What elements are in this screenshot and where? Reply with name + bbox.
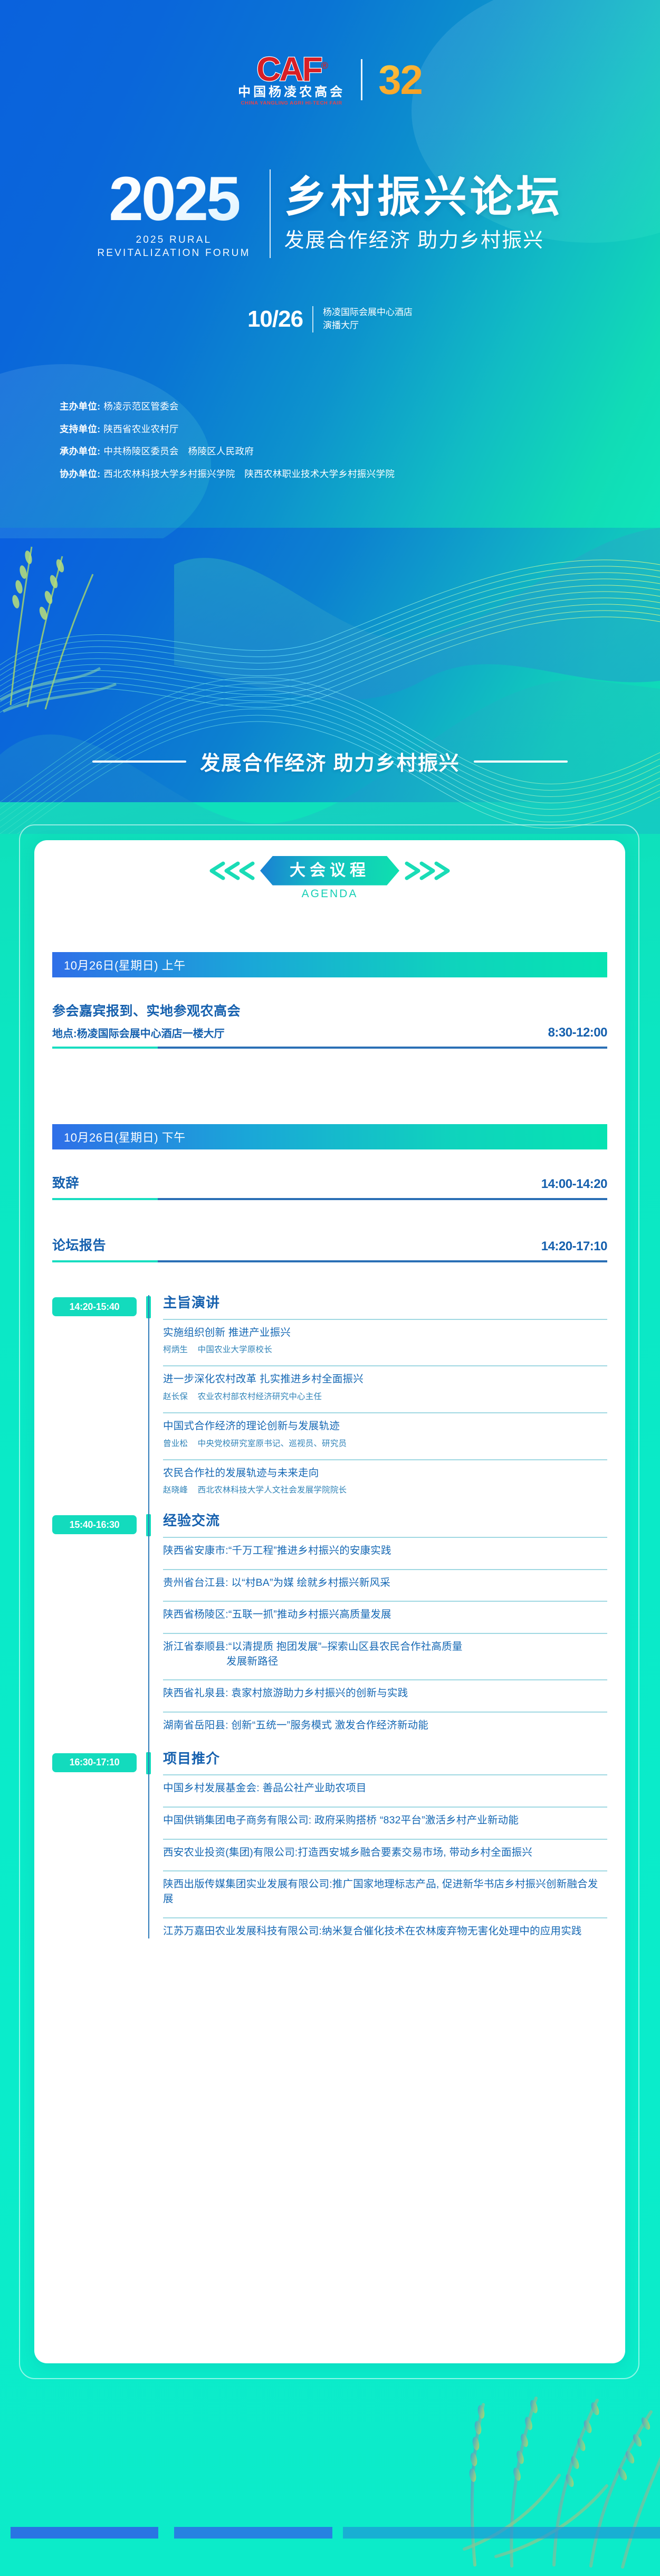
morning-session: 参会嘉宾报到、实地参观农高会 地点:杨凌国际会展中心酒店一楼大厅 8:30-12… — [52, 1001, 607, 1049]
brand-logo-row: CAF® 中国杨凌农高会 CHINA YANGLING AGRI HI-TECH… — [0, 49, 660, 111]
session-speaker: 曾业松 中央党校研究室原书记、巡视员、研究员 — [163, 1437, 607, 1449]
opening-session: 致辞 14:00-14:20 — [52, 1173, 607, 1200]
speaker-role: 农业农村部农村经济研究中心主任 — [198, 1392, 322, 1401]
list-item: 江苏万嘉田农业发展科技有限公司:纳米复合催化技术在农林废弃物无害化处理中的应用实… — [163, 1917, 607, 1939]
organizer-row: 协办单位: 西北农林科技大学乡村振兴学院 陕西农林职业技术大学乡村振兴学院 — [60, 470, 619, 479]
session-title: 中国式合作经济的理论创新与发展轨迹 — [163, 1419, 607, 1434]
timeline-gap — [163, 1733, 607, 1751]
agenda-badge-label: 大会议程 — [260, 856, 399, 886]
hero-year-column: 2025 2025 RURAL REVITALIZATION FORUM — [97, 168, 255, 260]
list-item: 陕西省杨陵区:“五联一抓”推动乡村振兴高质量发展 — [163, 1601, 607, 1622]
list-item: 陕西出版传媒集团实业发展有限公司:推广国家地理标志产品, 促进新华书店乡村振兴创… — [163, 1870, 607, 1906]
caf-logo: CAF® 中国杨凌农高会 CHINA YANGLING AGRI HI-TECH… — [238, 53, 345, 107]
list-item: 陕西省安康市:“千万工程”推进乡村振兴的安康实践 — [163, 1537, 607, 1558]
morning-place-row: 地点:杨凌国际会展中心酒店一楼大厅 8:30-12:00 — [52, 1025, 607, 1040]
event-venue: 杨凌国际会展中心酒店 演播大厅 — [323, 306, 413, 332]
session-title: 进一步深化农村改革 扎实推进乡村全面振兴 — [163, 1372, 607, 1387]
list-item: 中国供销集团电子商务有限公司: 政府采购搭桥 “832平台”激活乡村产业新动能 — [163, 1807, 607, 1828]
registered-trademark-icon: ® — [321, 60, 327, 71]
timeline-group-keynote: 14:20-15:40 主旨演讲 实施组织创新 推进产业振兴 柯炳生 中国农业大… — [52, 1295, 607, 1513]
session-speaker: 柯炳生 中国农业大学原校长 — [163, 1343, 607, 1355]
organizer-value: 陕西省农业农村厅 — [103, 425, 178, 434]
speaker-role: 西北农林科技大学人文社会发展学院院长 — [198, 1486, 347, 1495]
hero-year-en-line2: REVITALIZATION FORUM — [97, 248, 250, 259]
caf-english-name: CHINA YANGLING AGRI HI-TECH FAIR — [241, 100, 342, 106]
session-speaker: 赵长保 农业农村部农村经济研究中心主任 — [163, 1390, 607, 1402]
session-title: 实施组织创新 推进产业振兴 — [163, 1326, 607, 1341]
speaker-name: 柯炳生 — [163, 1345, 188, 1354]
page-subtitle: 发展合作经济 助力乡村振兴 — [284, 229, 563, 253]
caf-wordmark-icon: CAF® — [256, 53, 327, 85]
timeline-time-pill: 16:30-17:10 — [52, 1753, 137, 1772]
list-item: 陕西省礼泉县: 袁家村旅游助力乡村振兴的创新与实践 — [163, 1679, 607, 1701]
poster-root: CAF® 中国杨凌农高会 CHINA YANGLING AGRI HI-TECH… — [0, 0, 660, 2576]
organizer-value: 西北农林科技大学乡村振兴学院 陕西农林职业技术大学乡村振兴学院 — [103, 470, 395, 479]
session-title: 江苏万嘉田农业发展科技有限公司:纳米复合催化技术在农林废弃物无害化处理中的应用实… — [163, 1924, 607, 1939]
chevron-right-icon — [396, 859, 454, 882]
timeline-spine — [148, 1295, 149, 1513]
organizer-value: 中共杨陵区委员会 杨陵区人民政府 — [103, 447, 254, 457]
timeline-group-heading: 经验交流 — [163, 1513, 607, 1528]
venue-line2: 演播大厅 — [323, 320, 359, 330]
daybar-afternoon: 10月26日(星期日) 下午 — [52, 1124, 607, 1149]
organizer-list: 主办单位: 杨凌示范区管委会 支持单位: 陕西省农业农村厅 承办单位: 中共杨陵… — [60, 402, 619, 492]
banner-rule-right — [474, 761, 568, 763]
organizer-row: 主办单位: 杨凌示范区管委会 — [60, 402, 619, 412]
session-title: 陕西省杨陵区:“五联一抓”推动乡村振兴高质量发展 — [163, 1608, 607, 1622]
opening-rule — [52, 1198, 607, 1200]
list-item: 农民合作社的发展轨迹与未来走向 赵晓峰 西北农林科技大学人文社会发展学院院长 — [163, 1459, 607, 1496]
timeline-group-experience: 15:40-16:30 经验交流 陕西省安康市:“千万工程”推进乡村振兴的安康实… — [52, 1513, 607, 1751]
agenda-card: 大会议程 AGENDA 10月26日(星期日) 上午 参会嘉宾报到、实地参观农高… — [34, 840, 625, 2363]
timeline-time-pill: 15:40-16:30 — [52, 1515, 137, 1534]
list-item: 中国乡村发展基金会: 善品公社产业助农项目 — [163, 1774, 607, 1796]
session-title: 农民合作社的发展轨迹与未来走向 — [163, 1466, 607, 1481]
event-date: 10/26 — [247, 308, 303, 331]
daybar-morning: 10月26日(星期日) 上午 — [52, 952, 607, 977]
agenda-header: 大会议程 AGENDA — [34, 856, 625, 900]
report-session: 论坛报告 14:20-17:10 — [52, 1235, 607, 1262]
agenda-timeline: 14:20-15:40 主旨演讲 实施组织创新 推进产业振兴 柯炳生 中国农业大… — [52, 1295, 607, 1938]
banner-rule-left — [92, 761, 186, 763]
page-title: 乡村振兴论坛 — [284, 175, 563, 221]
list-item: 中国式合作经济的理论创新与发展轨迹 曾业松 中央党校研究室原书记、巡视员、研究员 — [163, 1412, 607, 1449]
speaker-name: 曾业松 — [163, 1439, 188, 1448]
report-time: 14:20-17:10 — [541, 1239, 607, 1254]
opening-title-row: 致辞 14:00-14:20 — [52, 1173, 607, 1192]
report-rule — [52, 1260, 607, 1262]
hero-year-en-line1: 2025 RURAL — [136, 234, 212, 245]
morning-place: 地点:杨凌国际会展中心酒店一楼大厅 — [52, 1025, 225, 1040]
timeline-group-projects: 16:30-17:10 项目推介 中国乡村发展基金会: 善品公社产业助农项目 中… — [52, 1751, 607, 1939]
list-item: 湖南省岳阳县: 创新“五统一”服务模式 激发合作经济新动能 — [163, 1712, 607, 1733]
session-title: 湖南省岳阳县: 创新“五统一”服务模式 激发合作经济新动能 — [163, 1718, 607, 1733]
list-item: 浙江省泰顺县:“以清提质 抱团发展”–探索山区县农民合作社高质量 发展新路径 — [163, 1633, 607, 1669]
logo-divider — [361, 59, 362, 100]
timeline-time-pill: 14:20-15:40 — [52, 1297, 137, 1316]
speaker-name: 赵长保 — [163, 1392, 188, 1401]
timeline-gap — [163, 1495, 607, 1513]
list-item: 进一步深化农村改革 扎实推进乡村全面振兴 赵长保 农业农村部农村经济研究中心主任 — [163, 1365, 607, 1402]
organizer-label: 协办单位: — [60, 470, 100, 479]
agenda-badge-english: AGENDA — [302, 888, 358, 900]
session-title: 陕西省礼泉县: 袁家村旅游助力乡村振兴的创新与实践 — [163, 1686, 607, 1701]
section-banner: 发展合作经济 助力乡村振兴 — [0, 747, 660, 776]
opening-title: 致辞 — [52, 1173, 79, 1192]
session-title: 浙江省泰顺县:“以清提质 抱团发展”–探索山区县农民合作社高质量 — [163, 1640, 607, 1655]
session-speaker: 赵晓峰 西北农林科技大学人文社会发展学院院长 — [163, 1484, 607, 1495]
agenda-badge-row: 大会议程 — [205, 856, 454, 886]
hero-title-column: 乡村振兴论坛 发展合作经济 助力乡村振兴 — [284, 175, 563, 253]
timeline-group-heading: 主旨演讲 — [163, 1295, 607, 1310]
timeline-spine — [148, 1751, 149, 1939]
hero-year-english: 2025 RURAL REVITALIZATION FORUM — [97, 233, 250, 260]
morning-time: 8:30-12:00 — [548, 1025, 607, 1040]
organizer-row: 支持单位: 陕西省农业农村厅 — [60, 425, 619, 434]
banner-title: 发展合作经济 助力乡村振兴 — [200, 747, 460, 776]
date-venue-divider — [312, 306, 313, 332]
morning-title-row: 参会嘉宾报到、实地参观农高会 — [52, 1001, 607, 1020]
list-item: 实施组织创新 推进产业振兴 柯炳生 中国农业大学原校长 — [163, 1319, 607, 1355]
speaker-name: 赵晓峰 — [163, 1486, 188, 1495]
organizer-label: 主办单位: — [60, 402, 100, 412]
timeline-group-heading: 项目推介 — [163, 1751, 607, 1766]
speaker-role: 中国农业大学原校长 — [198, 1345, 272, 1354]
opening-time: 14:00-14:20 — [541, 1177, 607, 1192]
hero-title-block: 2025 2025 RURAL REVITALIZATION FORUM 乡村振… — [0, 168, 660, 260]
session-title: 贵州省台江县: 以“村BA”为媒 绘就乡村振兴新风采 — [163, 1576, 607, 1591]
list-item: 西安农业投资(集团)有限公司:打造西安城乡融合要素交易市场, 带动乡村全面振兴 — [163, 1839, 607, 1860]
venue-line1: 杨凌国际会展中心酒店 — [323, 307, 413, 317]
edition-number: 32 — [378, 59, 422, 100]
organizer-label: 支持单位: — [60, 425, 100, 434]
report-title: 论坛报告 — [52, 1235, 106, 1254]
report-title-row: 论坛报告 14:20-17:10 — [52, 1235, 607, 1254]
session-title: 陕西省安康市:“千万工程”推进乡村振兴的安康实践 — [163, 1544, 607, 1558]
speaker-role: 中央党校研究室原书记、巡视员、研究员 — [198, 1439, 347, 1448]
morning-title: 参会嘉宾报到、实地参观农高会 — [52, 1001, 241, 1020]
caf-chinese-name: 中国杨凌农高会 — [238, 86, 345, 99]
session-title-continuation: 发展新路径 — [163, 1655, 607, 1669]
chevron-left-icon — [205, 859, 263, 882]
date-venue-row: 10/26 杨凌国际会展中心酒店 演播大厅 — [0, 306, 660, 332]
session-title: 中国供销集团电子商务有限公司: 政府采购搭桥 “832平台”激活乡村产业新动能 — [163, 1813, 607, 1828]
session-title: 陕西出版传媒集团实业发展有限公司:推广国家地理标志产品, 促进新华书店乡村振兴创… — [163, 1877, 607, 1906]
organizer-value: 杨凌示范区管委会 — [103, 402, 178, 412]
organizer-label: 承办单位: — [60, 447, 100, 457]
session-title: 中国乡村发展基金会: 善品公社产业助农项目 — [163, 1781, 607, 1796]
timeline-spine — [148, 1513, 149, 1751]
session-title: 西安农业投资(集团)有限公司:打造西安城乡融合要素交易市场, 带动乡村全面振兴 — [163, 1846, 607, 1860]
organizer-row: 承办单位: 中共杨陵区委员会 杨陵区人民政府 — [60, 447, 619, 457]
hero-title-divider — [270, 169, 271, 258]
morning-rule — [52, 1047, 607, 1049]
hero-year: 2025 — [109, 168, 239, 230]
background-mid-gradient — [0, 528, 660, 823]
list-item: 贵州省台江县: 以“村BA”为媒 绘就乡村振兴新风采 — [163, 1569, 607, 1591]
